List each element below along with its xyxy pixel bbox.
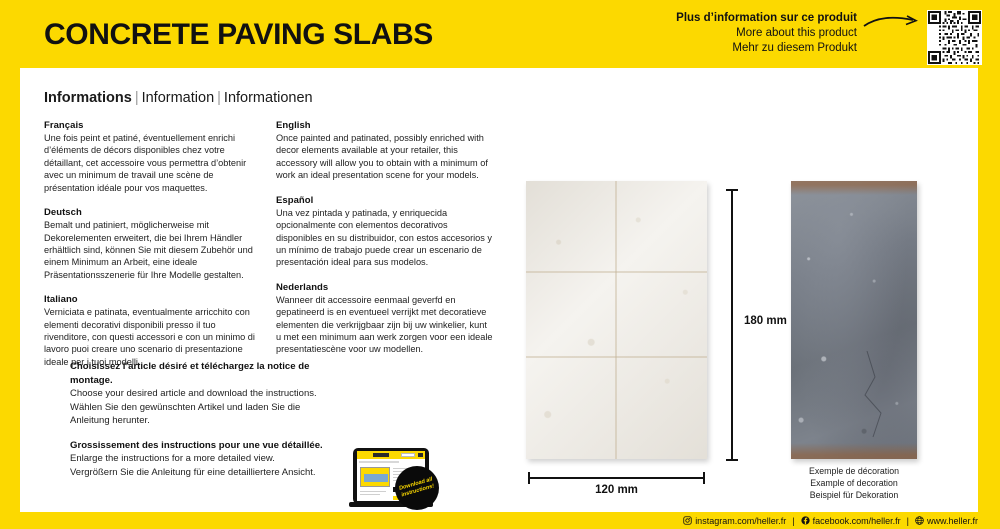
language-title: Deutsch — [44, 207, 262, 218]
footer-instagram[interactable]: instagram.com/heller.fr — [683, 516, 786, 526]
section-heading-sep-2: | — [214, 90, 224, 106]
language-block-italiano: Italiano Verniciata e patinata, eventual… — [44, 294, 262, 368]
website-navbar — [357, 451, 425, 459]
qr-callout-text: Plus d’information sur ce produit More a… — [676, 8, 857, 57]
qr-text-de: Mehr zu diesem Produkt — [676, 41, 857, 56]
language-body: Once painted and patinated, possibly enr… — [276, 132, 494, 182]
language-title: Français — [44, 120, 262, 131]
qr-text-en: More about this product — [676, 26, 857, 41]
footer-instagram-url: instagram.com/heller.fr — [695, 516, 786, 526]
instruction-headline: Choisissez l’article désiré et télécharg… — [70, 360, 350, 387]
product-info-sheet: CONCRETE PAVING SLABS Plus d’information… — [0, 0, 1000, 529]
language-column-left: Français Une fois peint et patiné, évent… — [44, 120, 262, 381]
content-card: Informations|Information|Informationen F… — [20, 68, 978, 512]
header-band: CONCRETE PAVING SLABS Plus d’information… — [0, 0, 1000, 68]
decoration-caption-fr: Exemple de décoration — [791, 465, 917, 477]
crack-line — [861, 351, 903, 441]
arrow-right-icon — [863, 14, 921, 32]
instruction-headline: Grossissement des instructions pour une … — [70, 439, 350, 453]
decoration-example-photo — [791, 181, 917, 459]
download-badge-text: Download all instructions! — [396, 476, 438, 500]
qr-callout: Plus d’information sur ce produit More a… — [676, 8, 982, 65]
instruction-line: Enlarge the instructions for a more deta… — [70, 452, 350, 465]
language-body: Une fois peint et patiné, éventuellement… — [44, 132, 262, 194]
dimension-cap-right — [703, 472, 705, 484]
language-block-francais: Français Une fois peint et patiné, évent… — [44, 120, 262, 194]
instruction-group-enlarge: Grossissement des instructions pour une … — [70, 439, 350, 480]
footer-separator-2: | — [901, 516, 915, 526]
section-heading-de: Informationen — [224, 90, 313, 106]
website-breadcrumb — [359, 461, 399, 463]
instruction-line: Choose your desired article and download… — [70, 387, 350, 400]
language-title: Italiano — [44, 294, 262, 305]
instruction-line: Anleitung herunter. — [70, 414, 350, 427]
language-block-english: English Once painted and patinated, poss… — [276, 120, 494, 182]
decoration-caption-de: Beispiel für Dekoration — [791, 489, 917, 501]
language-title: Español — [276, 195, 494, 206]
qr-text-fr: Plus d’information sur ce produit — [676, 11, 857, 26]
language-column-right: English Once painted and patinated, poss… — [276, 120, 494, 369]
dimension-width-label: 120 mm — [526, 484, 707, 496]
dimension-shaft — [731, 189, 733, 461]
download-all-instructions-badge[interactable]: Download all instructions! — [395, 466, 439, 510]
language-block-nederlands: Nederlands Wanneer dit accessoire eenmaa… — [276, 282, 494, 356]
website-product-image — [360, 467, 390, 487]
language-title: Nederlands — [276, 282, 494, 293]
tile-grout-horizontal — [526, 356, 707, 358]
website-logo — [373, 453, 389, 457]
language-body: Verniciata e patinata, eventualmente arr… — [44, 306, 262, 368]
dimension-cap-left — [528, 472, 530, 484]
tile-grout-horizontal — [526, 271, 707, 273]
section-heading-sep-1: | — [132, 90, 142, 106]
language-body: Bemalt und patiniert, möglicherweise mit… — [44, 219, 262, 281]
dimension-cap-top — [726, 189, 738, 191]
language-body: Una vez pintada y patinada, y enriquecid… — [276, 207, 494, 269]
language-block-deutsch: Deutsch Bemalt und patiniert, möglicherw… — [44, 207, 262, 281]
tile-grout-vertical — [615, 181, 617, 459]
instruction-line: Vergrößern Sie die Anleitung für eine de… — [70, 466, 350, 479]
language-block-espanol: Español Una vez pintada y patinada, y en… — [276, 195, 494, 269]
language-title: English — [276, 120, 494, 131]
section-heading-fr: Informations — [44, 90, 132, 106]
cart-icon — [418, 453, 423, 457]
footer-website[interactable]: www.heller.fr — [915, 516, 978, 526]
dimension-line-width — [526, 471, 707, 485]
qr-code-icon[interactable] — [927, 10, 982, 65]
dimension-shaft — [528, 477, 705, 479]
instructions-block: Choisissez l’article désiré et télécharg… — [70, 360, 350, 490]
footer-facebook[interactable]: facebook.com/heller.fr — [801, 516, 901, 526]
footer-facebook-url: facebook.com/heller.fr — [813, 516, 901, 526]
decoration-caption-en: Example of decoration — [791, 477, 917, 489]
footer-separator-1: | — [786, 516, 800, 526]
footer-website-url: www.heller.fr — [927, 516, 978, 526]
instruction-group-download: Choisissez l’article désiré et télécharg… — [70, 360, 350, 428]
decoration-caption: Exemple de décoration Example of decorat… — [791, 465, 917, 501]
website-text-line — [360, 494, 380, 495]
section-heading-en: Information — [142, 90, 215, 106]
website-text-line — [360, 491, 386, 492]
facebook-icon — [801, 516, 810, 525]
dimension-cap-bottom — [726, 459, 738, 461]
page-title: CONCRETE PAVING SLABS — [44, 18, 433, 52]
dimension-height-label: 180 mm — [744, 315, 787, 327]
instagram-icon — [683, 516, 692, 525]
section-heading: Informations|Information|Informationen — [44, 90, 313, 106]
dimension-line-height — [725, 186, 739, 464]
website-search-box — [401, 453, 415, 457]
footer-social-bar: instagram.com/heller.fr | facebook.com/h… — [0, 512, 1000, 529]
concrete-paving-slab-photo — [526, 181, 707, 459]
instruction-line: Wählen Sie den gewünschten Artikel und l… — [70, 401, 350, 414]
tablet-illustration: Download all instructions! — [347, 446, 439, 516]
globe-icon — [915, 516, 924, 525]
language-body: Wanneer dit accessoire eenmaal geverfd e… — [276, 294, 494, 356]
